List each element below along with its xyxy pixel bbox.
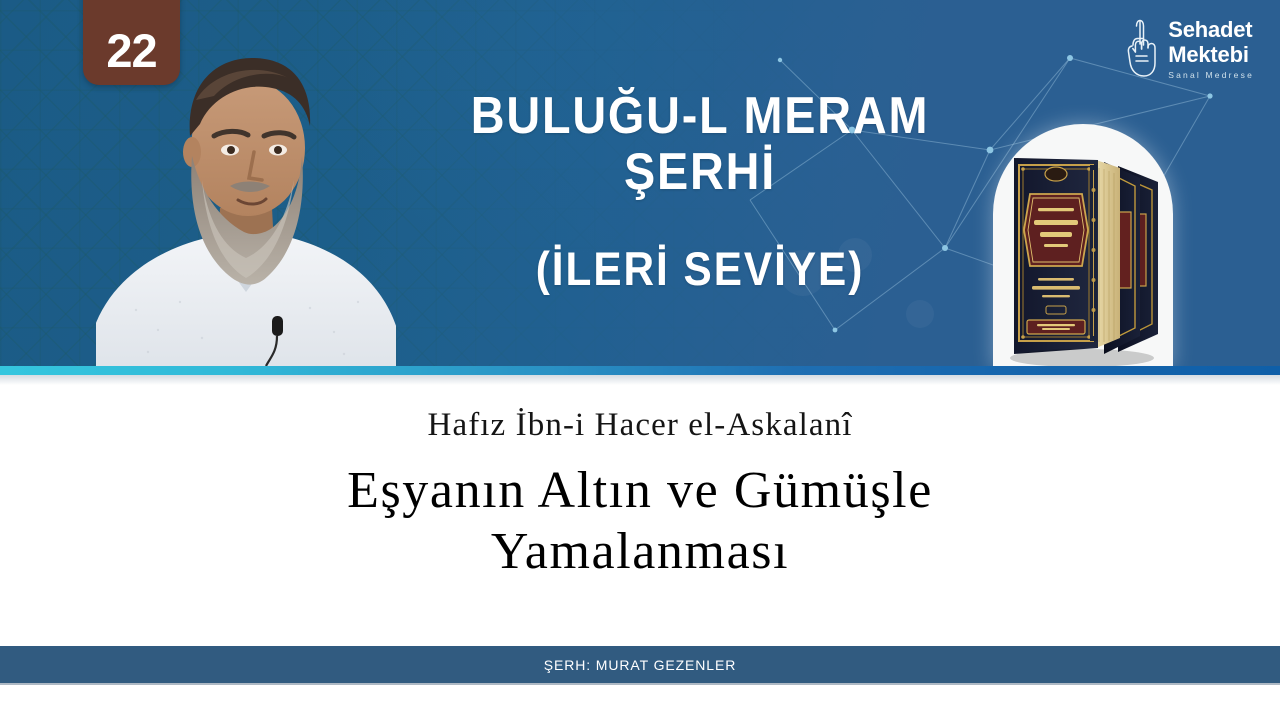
bokeh-dot [906, 300, 934, 328]
footer-credit-text: ŞERH: MURAT GEZENLER [544, 657, 737, 673]
brand-tagline: Sanal Medrese [1168, 71, 1254, 80]
footer-credit-bar: ŞERH: MURAT GEZENLER [0, 646, 1280, 683]
slide-canvas: 22 BULUĞU-L MERAM ŞERHİ (İLERİ SEVİYE) [0, 0, 1280, 720]
lesson-title-line1: Eşyanın Altın ve Gümüşle [0, 460, 1280, 521]
title-banner: 22 BULUĞU-L MERAM ŞERHİ (İLERİ SEVİYE) [0, 0, 1280, 368]
accent-strip [0, 366, 1280, 375]
brand-logo: Sehadet Mektebi Sanal Medrese [1123, 18, 1254, 80]
lesson-title: Eşyanın Altın ve Gümüşle Yamalanması [0, 460, 1280, 583]
footer-divider-rule [0, 683, 1280, 685]
bokeh-dot [838, 238, 872, 272]
lesson-title-line2: Yamalanması [0, 521, 1280, 582]
lesson-content-area: Hafız İbn-i Hacer el-Askalanî Eşyanın Al… [0, 385, 1280, 646]
brand-wordmark: Sehadet Mektebi Sanal Medrese [1168, 19, 1254, 80]
speaker-portrait [96, 40, 396, 368]
arabic-book-set-image [1000, 138, 1170, 368]
author-name: Hafız İbn-i Hacer el-Askalanî [0, 407, 1280, 444]
episode-number-badge: 22 [83, 0, 180, 85]
brand-line2: Mektebi [1168, 44, 1254, 66]
accent-strip-shadow [0, 375, 1280, 385]
episode-number: 22 [106, 27, 156, 74]
bokeh-dot [780, 250, 826, 296]
brand-line1: Sehadet [1168, 19, 1254, 41]
pointing-hand-icon [1123, 18, 1159, 80]
